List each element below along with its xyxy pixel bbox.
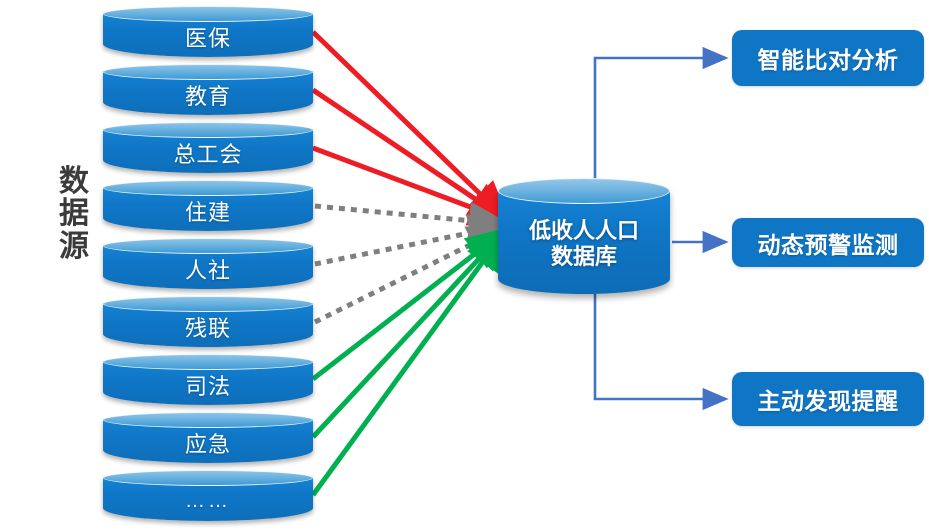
link-other: [313, 234, 503, 495]
source-label-char-0: 数: [52, 166, 96, 198]
link-group-green: [313, 232, 503, 495]
link-group-red: [313, 32, 505, 220]
source-cylinder-canlian[interactable]: 残联: [103, 296, 313, 348]
central-database-line-0: 低收人人口: [529, 218, 639, 244]
source-cylinder-label: 医保: [103, 18, 313, 56]
link-output-2: [595, 288, 726, 399]
link-sifa: [313, 232, 503, 379]
output-box-proactive-discovery[interactable]: 主动发现提醒: [732, 372, 924, 426]
output-box-dynamic-warning[interactable]: 动态预警监测: [732, 218, 924, 267]
source-cylinder-other[interactable]: ……: [103, 470, 313, 522]
source-label-char-2: 源: [52, 231, 96, 263]
diagram-canvas: 数 据 源 医保 教育 总工会 住建 人社 残联 司法: [0, 0, 929, 530]
output-box-intelligent-comparison[interactable]: 智能比对分析: [732, 30, 924, 86]
source-cylinder-label: 住建: [103, 192, 313, 230]
central-database-line-1: 数据库: [551, 244, 617, 270]
source-cylinder-jiaoyu[interactable]: 教育: [103, 64, 313, 116]
link-jiaoyu: [313, 90, 505, 219]
source-cylinder-sifa[interactable]: 司法: [103, 354, 313, 406]
central-database-label: 低收人人口 数据库: [498, 200, 670, 288]
source-cylinder-label: 应急: [103, 424, 313, 462]
link-rensne: [315, 226, 504, 264]
source-cylinder-label: 总工会: [103, 134, 313, 172]
source-cylinder-yibao[interactable]: 医保: [103, 6, 313, 58]
source-cylinder-label: 残联: [103, 308, 313, 346]
source-cylinder-label: 教育: [103, 76, 313, 114]
source-label-char-1: 据: [52, 198, 96, 230]
central-database-cylinder[interactable]: 低收人人口 数据库: [498, 178, 670, 296]
source-label: 数 据 源: [52, 166, 96, 263]
source-cylinder-zonggonghui[interactable]: 总工会: [103, 122, 313, 174]
source-cylinder-label: 人社: [103, 250, 313, 288]
link-output-0: [595, 58, 726, 190]
link-yibao: [313, 32, 505, 218]
source-cylinder-label: 司法: [103, 366, 313, 404]
source-cylinder-yingji[interactable]: 应急: [103, 412, 313, 464]
source-cylinder-zhujian[interactable]: 住建: [103, 180, 313, 232]
source-cylinder-label: ……: [103, 482, 313, 520]
source-cylinder-renshe[interactable]: 人社: [103, 238, 313, 290]
link-yingji: [313, 233, 503, 437]
